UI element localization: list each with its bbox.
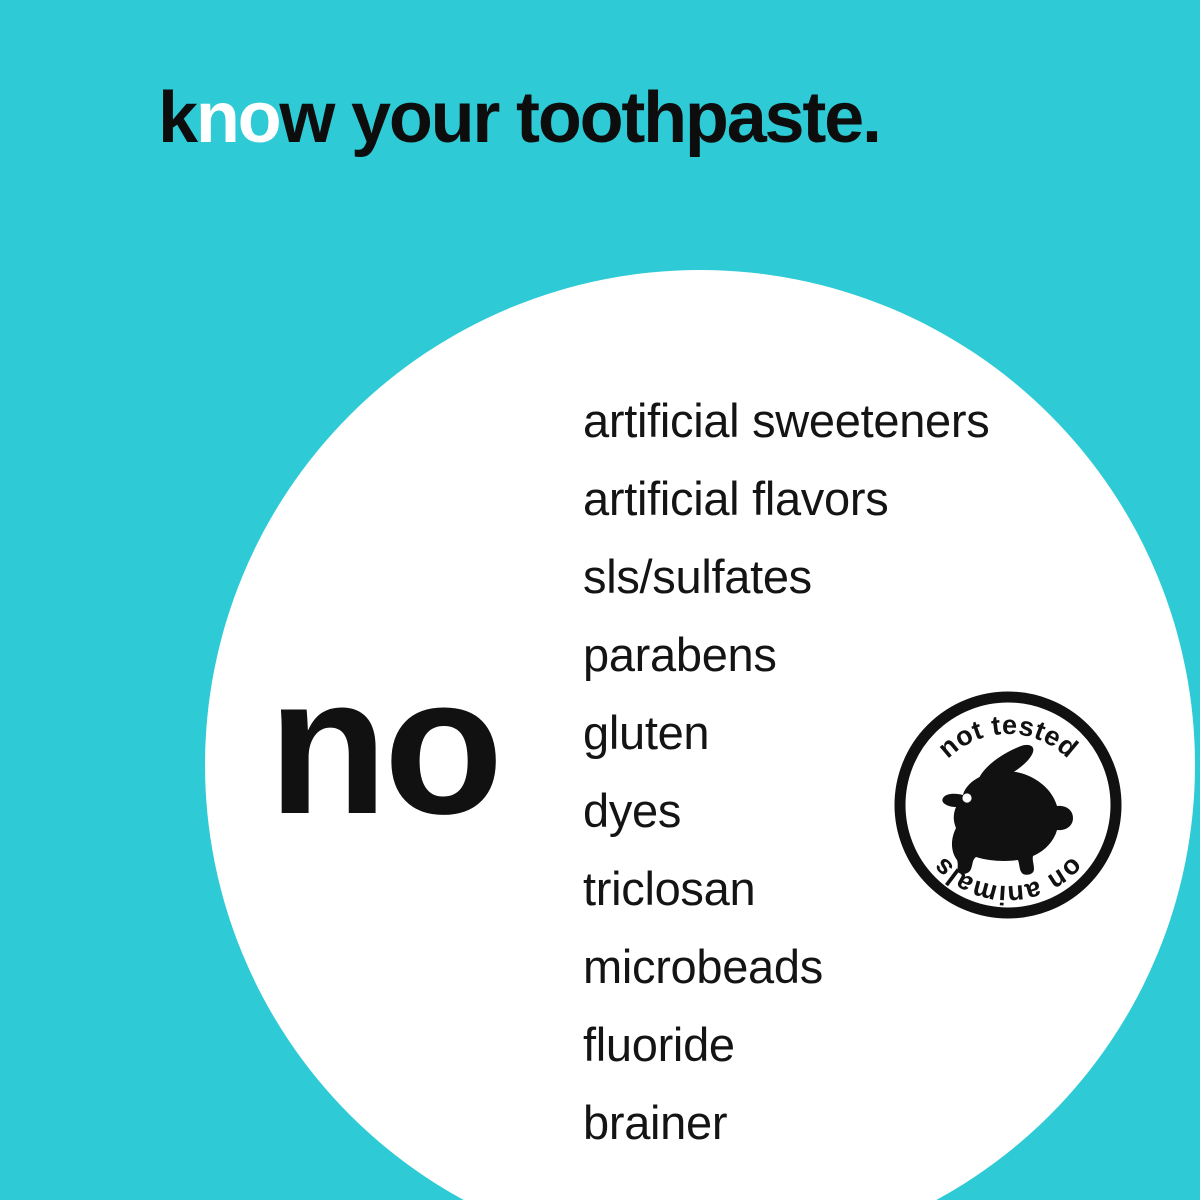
badge-graphic: not tested on animals bbox=[893, 690, 1123, 920]
list-item: fluoride bbox=[583, 1006, 1053, 1084]
list-item: microbeads bbox=[583, 928, 1053, 1006]
list-item: parabens bbox=[583, 616, 1053, 694]
list-item: brainer bbox=[583, 1084, 1053, 1162]
list-item: artificial sweeteners bbox=[583, 382, 1053, 460]
not-tested-on-animals-badge: not tested on animals bbox=[893, 690, 1123, 920]
rabbit-icon bbox=[942, 745, 1073, 875]
poster-canvas: know your toothpaste. no artificial swee… bbox=[0, 0, 1200, 1200]
headline-segment-no: no bbox=[196, 78, 280, 158]
list-item: artificial flavors bbox=[583, 460, 1053, 538]
no-callout-word: no bbox=[268, 648, 499, 844]
list-item: sls/sulfates bbox=[583, 538, 1053, 616]
headline-segment-rest: w your toothpaste. bbox=[279, 78, 879, 158]
headline-segment-k: k bbox=[158, 78, 196, 158]
page-title: know your toothpaste. bbox=[158, 82, 880, 154]
